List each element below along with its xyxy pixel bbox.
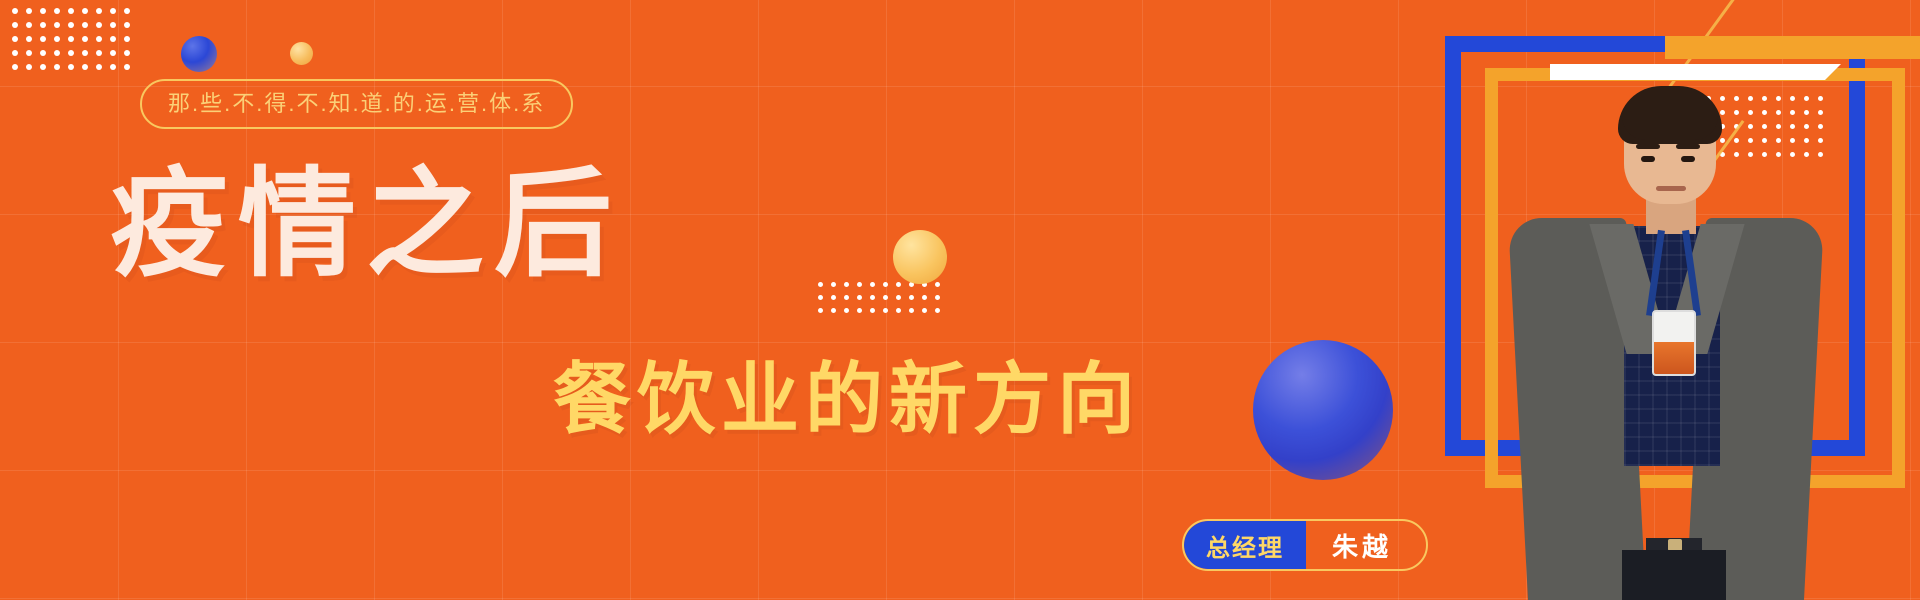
portrait-eye-right	[1681, 156, 1695, 162]
portrait-pants	[1622, 550, 1726, 600]
sphere-yellow-small	[290, 42, 313, 65]
sphere-blue-small	[181, 36, 217, 72]
title-line-1: 疫情之后	[110, 166, 622, 284]
subtitle-text: 那.些.不.得.不.知.道.的.运.营.体.系	[168, 93, 545, 115]
promo-banner: 那.些.不.得.不.知.道.的.运.营.体.系 疫情之后 餐饮业的新方向 总经理…	[0, 0, 1920, 600]
portrait-eyebrow-left	[1636, 144, 1660, 149]
sphere-yellow-medium	[893, 230, 947, 284]
title-line-2: 餐饮业的新方向	[553, 360, 1141, 438]
portrait-hair	[1618, 86, 1722, 144]
portrait-eyebrow-right	[1676, 144, 1700, 149]
sphere-blue-large	[1253, 340, 1393, 480]
subtitle-pill: 那.些.不.得.不.知.道.的.运.营.体.系	[140, 79, 573, 129]
speaker-role: 总经理	[1184, 521, 1306, 569]
portrait-eye-left	[1641, 156, 1655, 162]
speaker-portrait	[1496, 68, 1836, 600]
portrait-id-badge	[1652, 310, 1696, 376]
photo-frame-top-bar	[1665, 36, 1920, 59]
speaker-name: 朱越	[1306, 521, 1426, 569]
speaker-badge: 总经理 朱越	[1182, 519, 1428, 571]
portrait-mouth	[1656, 186, 1686, 191]
